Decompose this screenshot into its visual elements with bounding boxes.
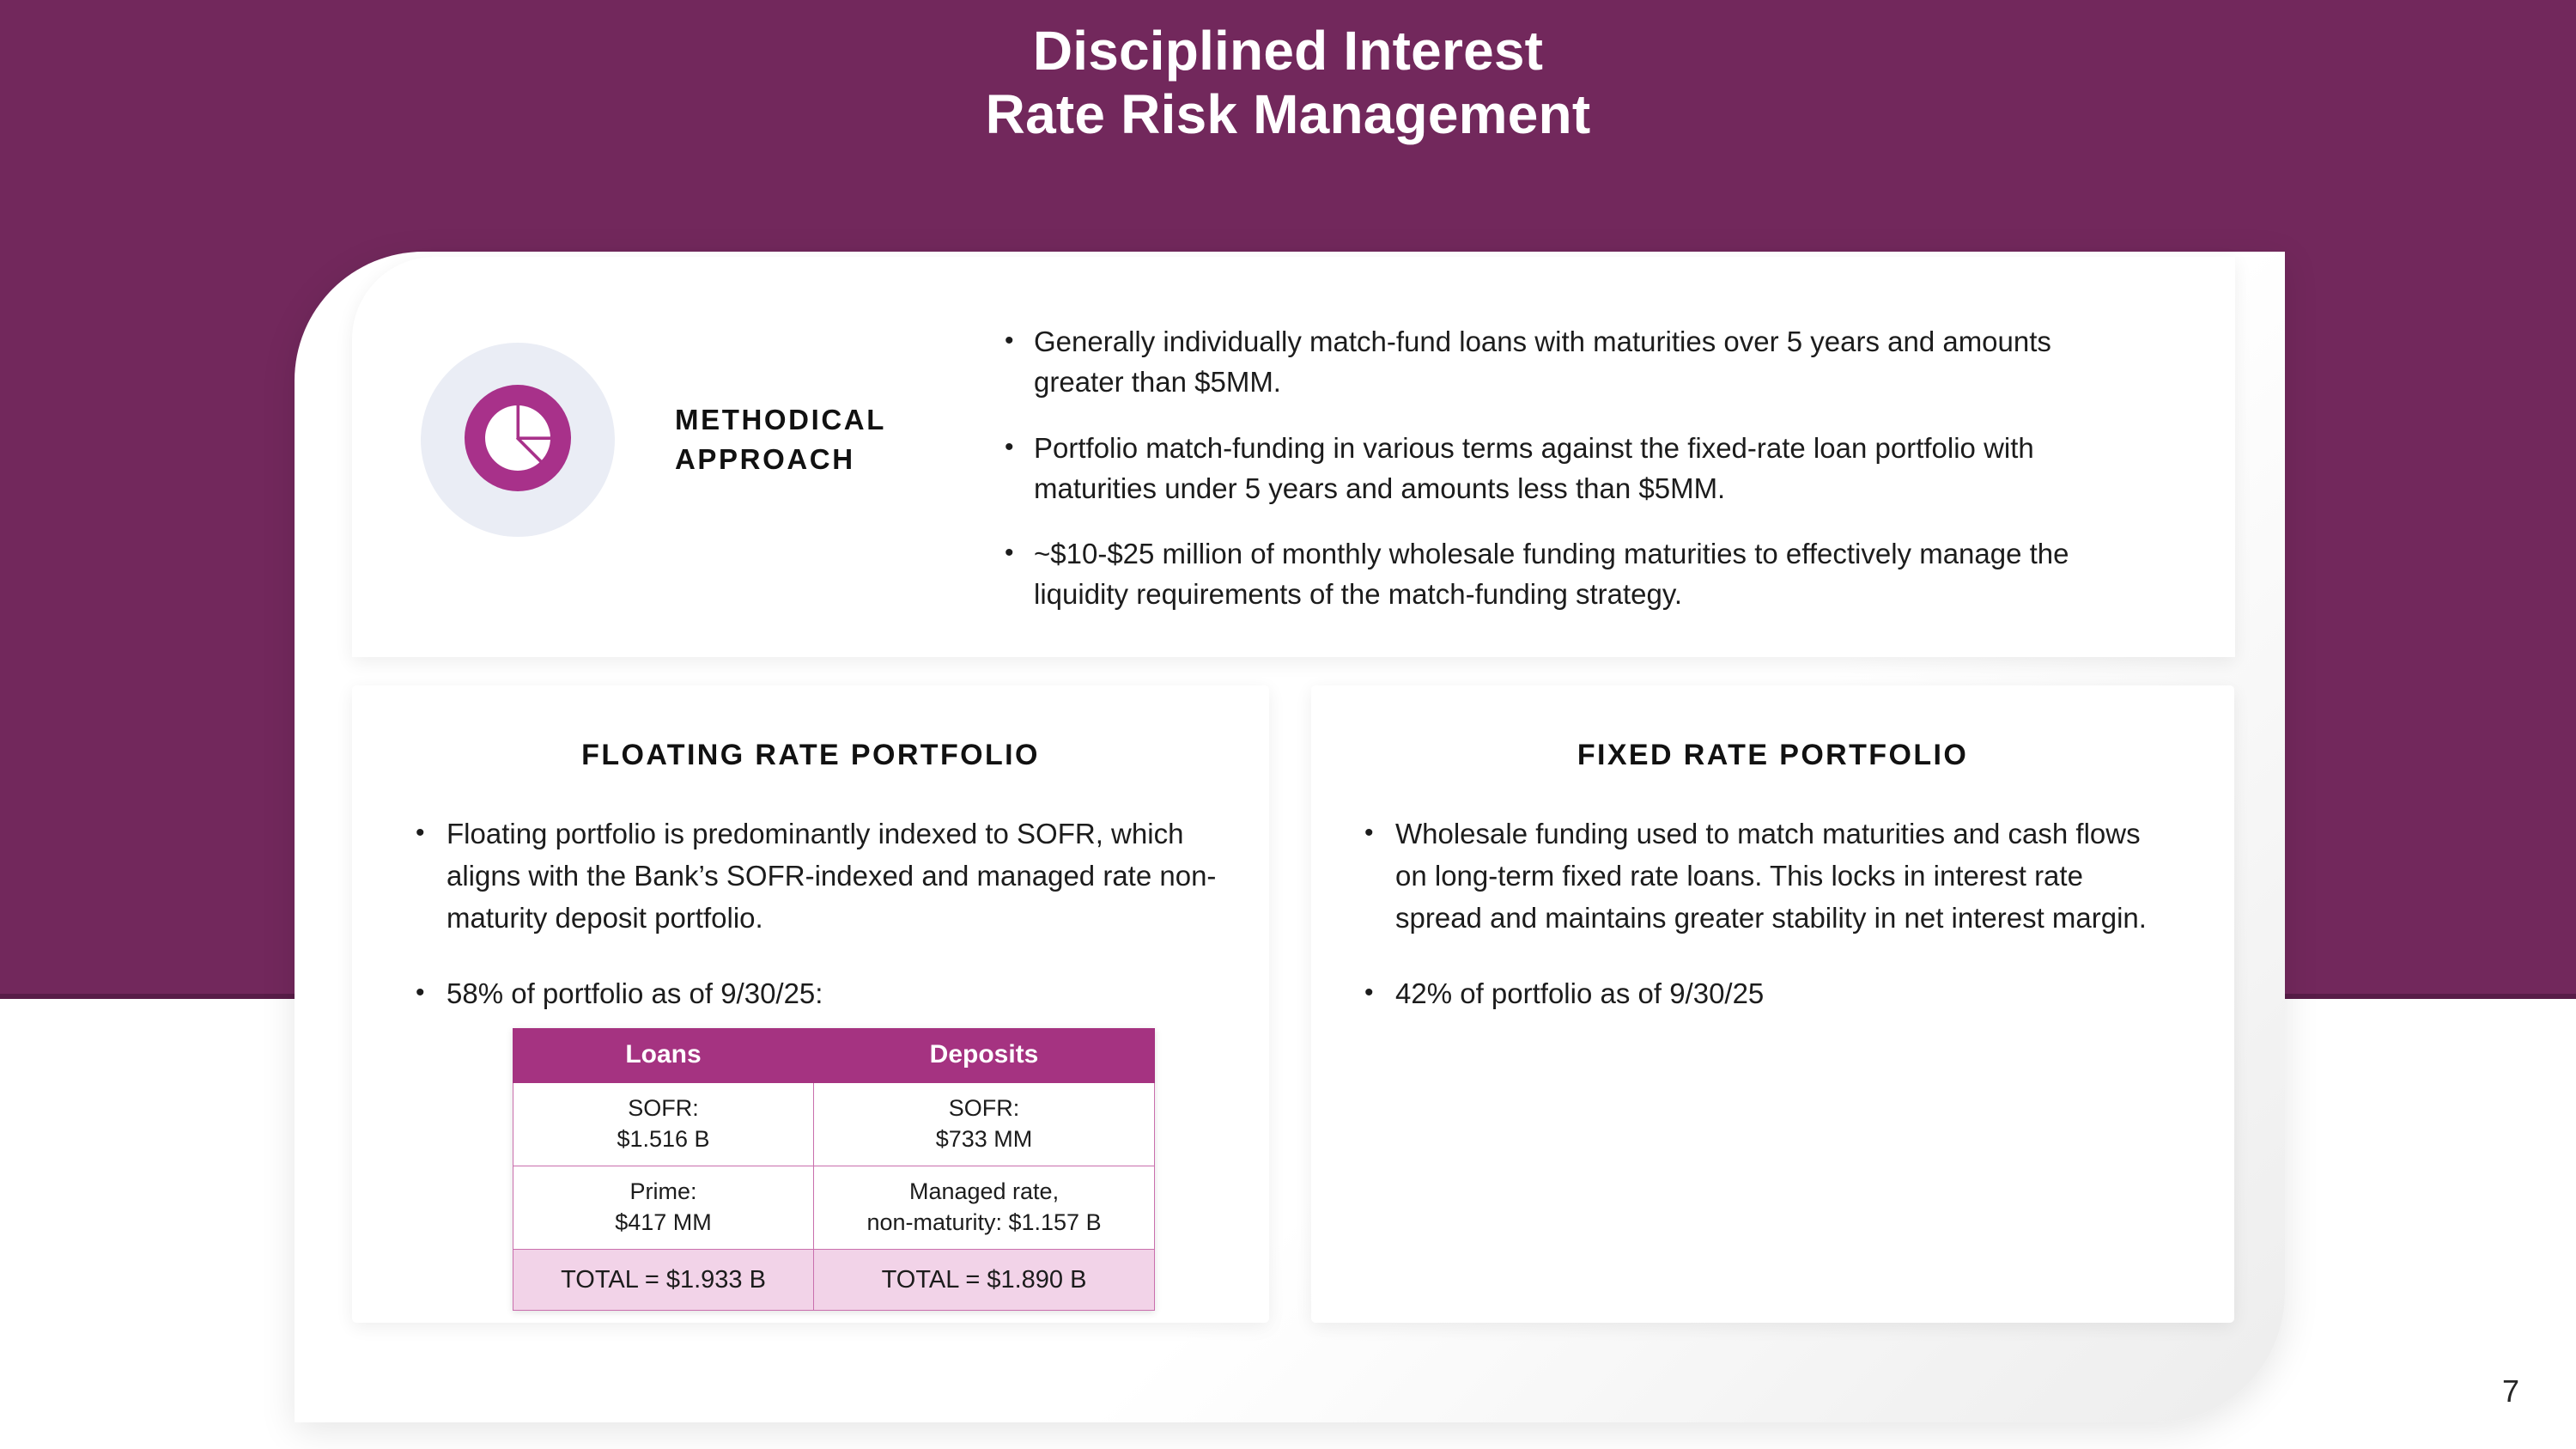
approach-label: METHODICAL APPROACH: [675, 400, 886, 478]
list-item-text: 58% of portfolio as of 9/30/25:: [447, 973, 1218, 1015]
list-item: • 58% of portfolio as of 9/30/25:: [416, 973, 1218, 1015]
icon-circle-backdrop: [421, 343, 615, 537]
bullet-marker-icon: •: [1364, 973, 1395, 1015]
approach-bullet-list: • Generally individually match-fund loan…: [1005, 257, 2235, 615]
table-total-row: TOTAL = $1.933 B TOTAL = $1.890 B: [513, 1249, 1155, 1311]
pie-chart-icon: [463, 383, 573, 497]
table-header-row: Loans Deposits: [513, 1029, 1155, 1083]
list-item-text: Wholesale funding used to match maturiti…: [1395, 813, 2157, 939]
fixed-rate-portfolio-panel: FIXED RATE PORTFOLIO • Wholesale funding…: [1311, 685, 2234, 1323]
methodical-approach-panel: METHODICAL APPROACH • Generally individu…: [352, 257, 2235, 657]
list-item: • Portfolio match-funding in various ter…: [1005, 429, 2132, 509]
floating-bullet-list: • Floating portfolio is predominantly in…: [352, 813, 1269, 1015]
list-item: • Wholesale funding used to match maturi…: [1364, 813, 2157, 939]
bullet-marker-icon: •: [1005, 429, 1034, 509]
table-total-deposits: TOTAL = $1.890 B: [814, 1249, 1155, 1311]
bullet-marker-icon: •: [1005, 534, 1034, 615]
list-item: • 42% of portfolio as of 9/30/25: [1364, 973, 2157, 1015]
list-item-text: Floating portfolio is predominantly inde…: [447, 813, 1218, 939]
list-item-text: ~$10-$25 million of monthly wholesale fu…: [1034, 534, 2132, 615]
fixed-bullet-list: • Wholesale funding used to match maturi…: [1311, 813, 2234, 1015]
table-cell: SOFR: $1.516 B: [513, 1083, 814, 1166]
list-item-text: Generally individually match-fund loans …: [1034, 322, 2132, 403]
table-row: Prime: $417 MM Managed rate, non-maturit…: [513, 1166, 1155, 1249]
bullet-marker-icon: •: [416, 973, 447, 1015]
column-header-loans: Loans: [513, 1029, 814, 1083]
list-item: • ~$10-$25 million of monthly wholesale …: [1005, 534, 2132, 615]
page-number: 7: [2502, 1373, 2519, 1409]
list-item-text: 42% of portfolio as of 9/30/25: [1395, 973, 2157, 1015]
list-item: • Generally individually match-fund loan…: [1005, 322, 2132, 403]
table-cell: SOFR: $733 MM: [814, 1083, 1155, 1166]
approach-identity: METHODICAL APPROACH: [352, 257, 1005, 537]
page-title: Disciplined Interest Rate Risk Managemen…: [0, 19, 2576, 146]
bullet-marker-icon: •: [1364, 813, 1395, 939]
table-cell: Managed rate, non-maturity: $1.157 B: [814, 1166, 1155, 1249]
table-row: SOFR: $1.516 B SOFR: $733 MM: [513, 1083, 1155, 1166]
bullet-marker-icon: •: [416, 813, 447, 939]
bullet-marker-icon: •: [1005, 322, 1034, 403]
floating-portfolio-heading: FLOATING RATE PORTFOLIO: [352, 739, 1269, 772]
column-header-deposits: Deposits: [814, 1029, 1155, 1083]
list-item-text: Portfolio match-funding in various terms…: [1034, 429, 2132, 509]
slide-root: Disciplined Interest Rate Risk Managemen…: [0, 0, 2576, 1449]
table-cell: Prime: $417 MM: [513, 1166, 814, 1249]
floating-rate-table: Loans Deposits SOFR: $1.516 B SOFR: $733…: [513, 1028, 1155, 1311]
floating-rate-portfolio-panel: FLOATING RATE PORTFOLIO • Floating portf…: [352, 685, 1269, 1323]
fixed-portfolio-heading: FIXED RATE PORTFOLIO: [1311, 739, 2234, 772]
list-item: • Floating portfolio is predominantly in…: [416, 813, 1218, 939]
table-total-loans: TOTAL = $1.933 B: [513, 1249, 814, 1311]
